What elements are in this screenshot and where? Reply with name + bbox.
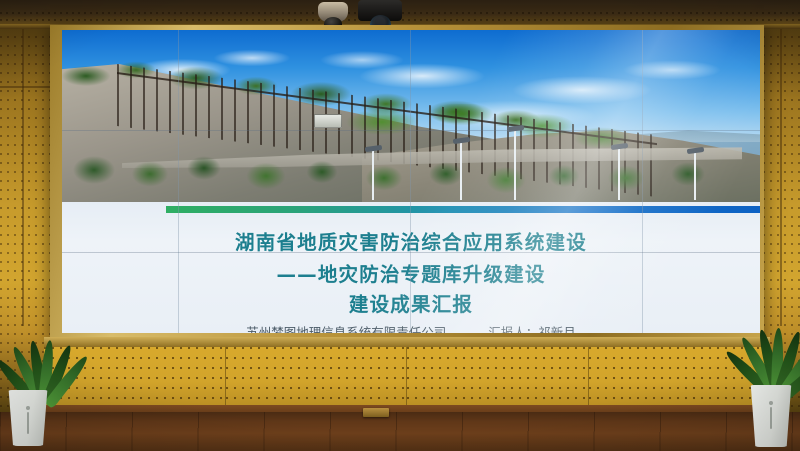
panel-top-rail xyxy=(44,337,770,347)
lamp-post-2 xyxy=(514,130,516,200)
conference-room-scene: 湖南省地质灾害防治综合应用系统建设 ——地灾防治专题库升级建设 建设成果汇报 苏… xyxy=(0,0,800,451)
slide-company-name: 苏州梦图地理信息系统有限责任公司 xyxy=(246,322,446,333)
video-wall-seam-v2 xyxy=(410,30,411,333)
projector-unit-icon xyxy=(358,0,402,21)
lamp-post-5 xyxy=(372,150,374,200)
slide-subtitle: ——地灾防治专题库升级建设 xyxy=(62,258,760,287)
lamp-post-4 xyxy=(694,152,696,200)
slide-third-line: 建设成果汇报 xyxy=(62,288,760,317)
plant-left-leaves xyxy=(8,312,68,402)
lower-panel xyxy=(407,347,589,409)
video-wall-seam-h1 xyxy=(62,130,760,131)
plant-right-pot xyxy=(748,385,794,447)
lamp-post-1 xyxy=(460,142,462,200)
plant-left xyxy=(0,310,70,451)
plant-left-pot xyxy=(6,390,50,446)
plant-left-pot-slot xyxy=(27,412,29,434)
foreground-trees xyxy=(62,148,760,202)
plant-right xyxy=(742,290,800,451)
video-wall-seam-v1 xyxy=(178,30,179,333)
wall-seam-vertical xyxy=(22,26,24,326)
floor-outlet-plate xyxy=(363,408,389,417)
lamp-post-3 xyxy=(618,148,620,200)
slide-accent-bar xyxy=(166,206,760,213)
slide-presenter-name: 汇报人：祁新月 xyxy=(488,322,576,333)
slide-photo xyxy=(62,30,760,202)
video-wall-seam-h2 xyxy=(62,252,760,253)
slide-title: 湖南省地质灾害防治综合应用系统建设 xyxy=(62,226,760,255)
plant-right-pot-slot xyxy=(770,407,772,429)
floor-plank-lines xyxy=(0,412,800,451)
wall-seam-horizontal xyxy=(0,86,52,88)
slide-footer: 苏州梦图地理信息系统有限责任公司 汇报人：祁新月 xyxy=(62,322,760,333)
site-building xyxy=(314,114,342,128)
plant-right-leaves xyxy=(742,290,800,390)
wall-seam-right xyxy=(780,26,782,326)
lower-panel xyxy=(226,347,408,409)
ptz-camera-icon xyxy=(318,2,348,22)
video-wall-seam-v3 xyxy=(642,30,643,333)
video-wall-display[interactable]: 湖南省地质灾害防治综合应用系统建设 ——地灾防治专题库升级建设 建设成果汇报 苏… xyxy=(62,30,760,333)
lower-acoustic-panels xyxy=(44,347,770,409)
wood-floor xyxy=(0,412,800,451)
